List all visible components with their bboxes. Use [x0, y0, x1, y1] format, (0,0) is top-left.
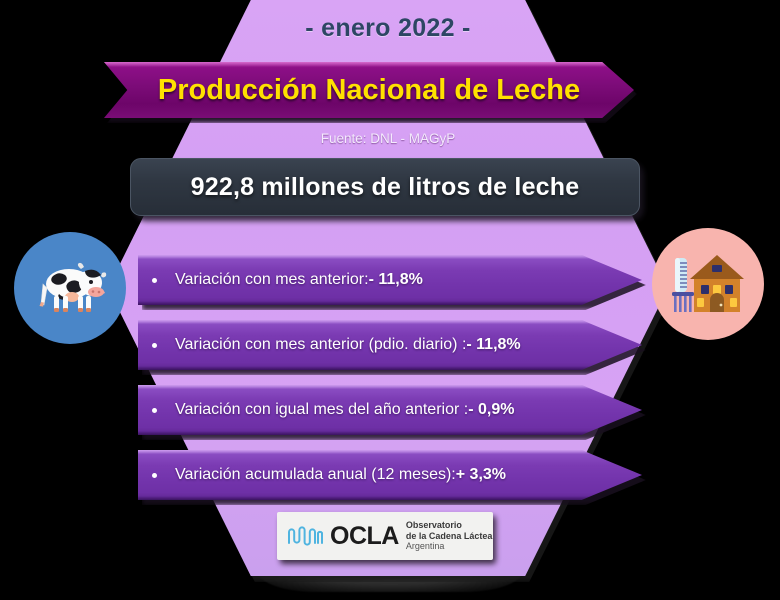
ocla-logo: OCLA Observatorio de la Cadena Láctea Ar…	[277, 512, 493, 560]
bullet-icon	[152, 408, 157, 413]
headline-value-box: 922,8 millones de litros de leche	[130, 158, 640, 216]
logo-subtitle-line2: de la Cadena Láctea	[406, 531, 493, 542]
month-label: - enero 2022 -	[108, 14, 668, 43]
metric-value: - 11,8%	[369, 271, 423, 289]
metric-value: - 11,8%	[466, 336, 520, 354]
logo-acronym: OCLA	[330, 524, 399, 549]
metric-row: Variación con mes anterior: - 11,8%	[138, 255, 642, 305]
metric-label: Variación con mes anterior:	[175, 271, 369, 289]
metric-label: Variación acumulada anual (12 meses):	[175, 466, 456, 484]
metric-row-text: Variación acumulada anual (12 meses): + …	[138, 450, 506, 500]
page-title: Producción Nacional de Leche	[104, 62, 634, 118]
metric-row: Variación con igual mes del año anterior…	[138, 385, 642, 435]
badge-dairy-factory	[652, 228, 764, 340]
metric-row-text: Variación con mes anterior (pdio. diario…	[138, 320, 521, 370]
bullet-icon	[152, 343, 157, 348]
bullet-icon	[152, 473, 157, 478]
bullet-icon	[152, 278, 157, 283]
wave-icon	[287, 523, 323, 549]
metric-label: Variación con igual mes del año anterior…	[175, 401, 468, 419]
logo-subtitle: Observatorio de la Cadena Láctea Argenti…	[406, 520, 493, 553]
metric-row: Variación con mes anterior (pdio. diario…	[138, 320, 642, 370]
badge-cow	[14, 232, 126, 344]
source-label: Fuente: DNL - MAGyP	[108, 131, 668, 146]
logo-subtitle-line3: Argentina	[406, 541, 493, 552]
metric-value: + 3,3%	[456, 466, 506, 484]
metric-value: - 0,9%	[468, 401, 514, 419]
logo-subtitle-line1: Observatorio	[406, 520, 493, 531]
metric-row: Variación acumulada anual (12 meses): + …	[138, 450, 642, 500]
metric-row-text: Variación con mes anterior: - 11,8%	[138, 255, 423, 305]
cow-icon	[33, 258, 107, 318]
dairy-factory-icon	[668, 252, 748, 316]
metric-row-text: Variación con igual mes del año anterior…	[138, 385, 514, 435]
infographic-canvas: - enero 2022 - Producción Nacional de Le…	[0, 0, 780, 600]
metric-label: Variación con mes anterior (pdio. diario…	[175, 336, 466, 354]
headline-value-text: 922,8 millones de litros de leche	[191, 173, 580, 202]
